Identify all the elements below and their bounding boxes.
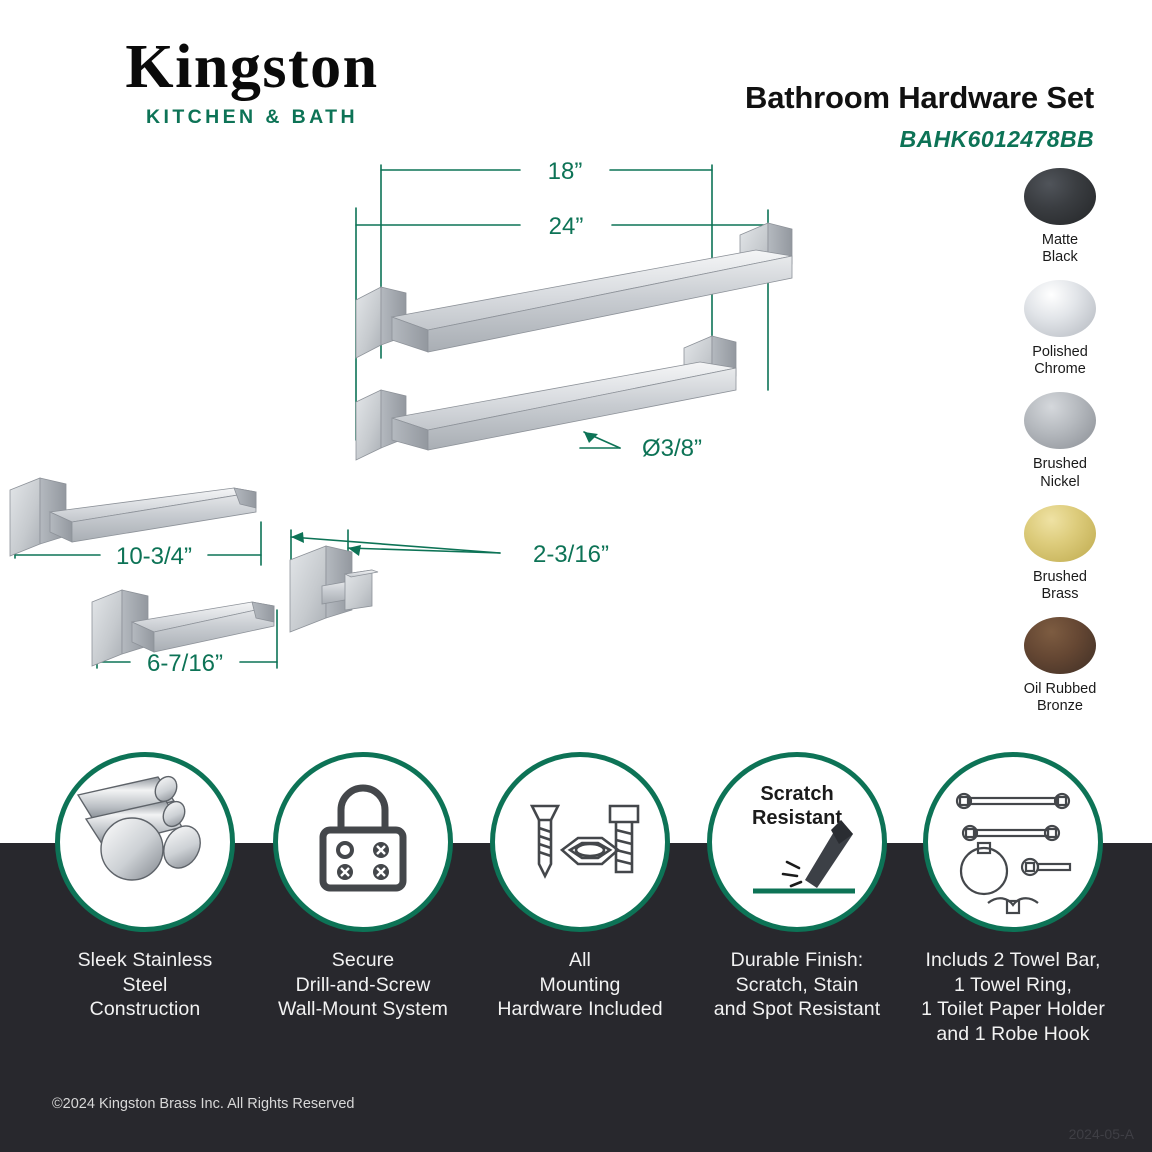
- dimension-label-18: 18”: [548, 158, 583, 185]
- dimension-label-24: 24”: [549, 213, 584, 240]
- feature-caption: Durable Finish: Scratch, Stain and Spot …: [687, 948, 907, 1022]
- feature-circle: [273, 752, 453, 932]
- feature-caption: All Mounting Hardware Included: [470, 948, 690, 1022]
- feature-durable-finish: Scratch Resistant Durable Finish: Scratc…: [687, 752, 907, 1022]
- set-contents-icon: [938, 767, 1088, 917]
- steel-rods-icon: [70, 767, 220, 917]
- dimension-label-robe-hook: 2-3/16”: [533, 541, 609, 568]
- finish-label: Brushed Nickel: [1033, 456, 1087, 490]
- finish-swatch-oil-rubbed-bronze: [1024, 617, 1096, 674]
- scratch-resistant-blade-icon: Scratch Resistant: [713, 758, 881, 926]
- revision-code: 2024-05-A: [1069, 1126, 1134, 1142]
- finish-option-polished-chrome[interactable]: Polished Chrome: [1024, 280, 1096, 378]
- feature-set-contents: Includs 2 Towel Bar, 1 Towel Ring, 1 Toi…: [903, 752, 1123, 1046]
- finish-label: Brushed Brass: [1033, 569, 1087, 603]
- feature-caption: Includs 2 Towel Bar, 1 Towel Ring, 1 Toi…: [903, 948, 1123, 1046]
- finish-option-brushed-nickel[interactable]: Brushed Nickel: [1024, 392, 1096, 490]
- dimension-label-diameter: Ø3/8”: [642, 435, 702, 462]
- finish-option-oil-rubbed-bronze[interactable]: Oil Rubbed Bronze: [1024, 617, 1097, 715]
- finish-options-list: Matte Black Polished Chrome Brushed Nick…: [1004, 168, 1116, 729]
- feature-highlights: Sleek Stainless Steel Construction: [0, 752, 1152, 1152]
- feature-circle: [490, 752, 670, 932]
- product-illustration: 18” 24” Ø3/8” 10-3/4” 6-7/16” 2-3/16”: [0, 140, 980, 710]
- scratch-badge-line1: Scratch: [760, 783, 833, 805]
- finish-option-matte-black[interactable]: Matte Black: [1024, 168, 1096, 266]
- finish-label: Oil Rubbed Bronze: [1024, 681, 1097, 715]
- feature-stainless-steel: Sleek Stainless Steel Construction: [35, 752, 255, 1022]
- feature-circle: [55, 752, 235, 932]
- dimension-label-towel-ring: 6-7/16”: [147, 650, 223, 677]
- brand-tagline: KITCHEN & BATH: [52, 106, 452, 129]
- page-title: Bathroom Hardware Set: [745, 80, 1094, 116]
- dimension-label-tp-holder: 10-3/4”: [116, 543, 192, 570]
- scratch-badge-line2: Resistant: [752, 807, 842, 829]
- feature-circle: [923, 752, 1103, 932]
- feature-wall-mount: Secure Drill-and-Screw Wall-Mount System: [253, 752, 473, 1022]
- brand-name: Kingston: [52, 36, 452, 99]
- finish-swatch-brushed-brass: [1024, 505, 1096, 562]
- finish-swatch-polished-chrome: [1024, 280, 1096, 337]
- feature-caption: Secure Drill-and-Screw Wall-Mount System: [253, 948, 473, 1022]
- finish-option-brushed-brass[interactable]: Brushed Brass: [1024, 505, 1096, 603]
- copyright-text: ©2024 Kingston Brass Inc. All Rights Res…: [52, 1096, 354, 1112]
- feature-circle: Scratch Resistant: [707, 752, 887, 932]
- finish-label: Polished Chrome: [1032, 344, 1088, 378]
- finish-label: Matte Black: [1042, 232, 1078, 266]
- padlock-screws-icon: [293, 772, 433, 912]
- screws-nut-bolt-icon: [510, 772, 650, 912]
- feature-caption: Sleek Stainless Steel Construction: [35, 948, 255, 1022]
- feature-mounting-hardware: All Mounting Hardware Included: [470, 752, 690, 1022]
- brand-logo: Kingston KITCHEN & BATH: [52, 36, 452, 129]
- finish-swatch-brushed-nickel: [1024, 392, 1096, 449]
- finish-swatch-matte-black: [1024, 168, 1096, 225]
